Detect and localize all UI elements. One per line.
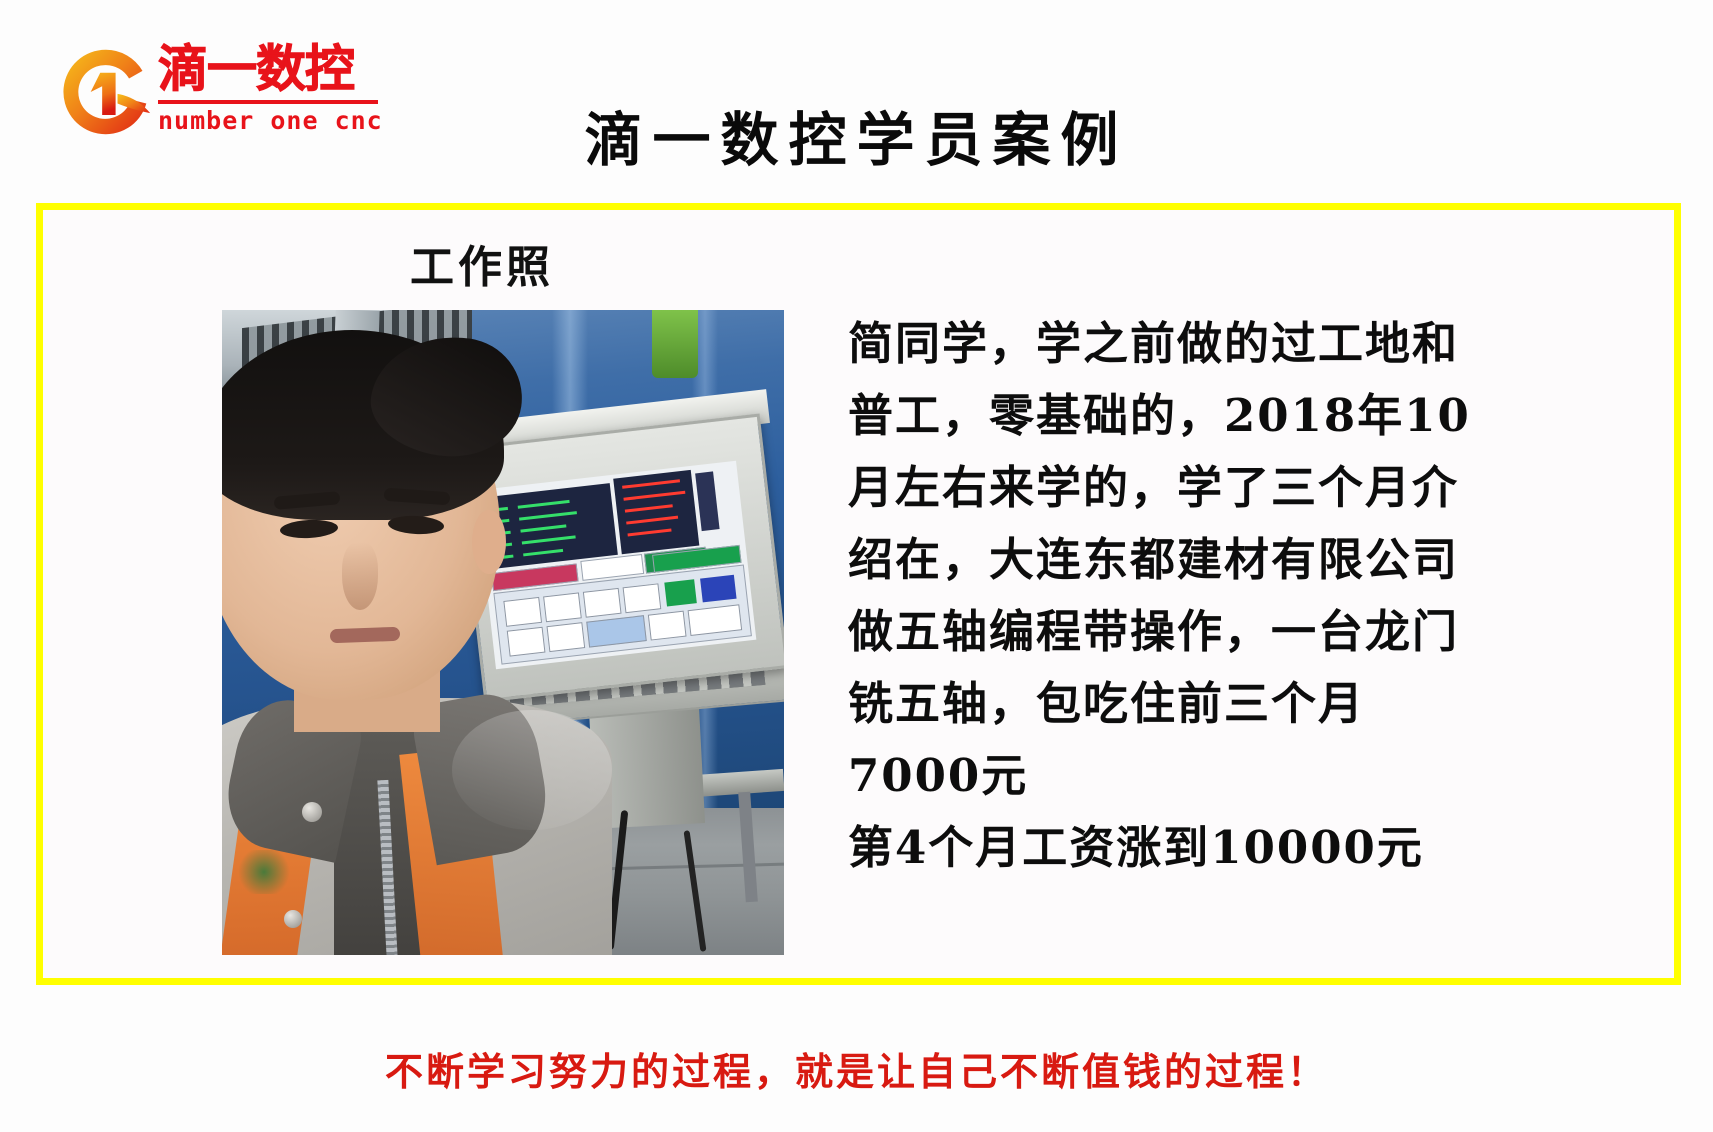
student-story-text: 简同学，学之前做的过工地和 普工，零基础的，2018年10 月左右来学的，学了三… bbox=[848, 308, 1588, 884]
student-work-photo bbox=[222, 310, 784, 955]
jacket-highlight bbox=[452, 710, 612, 830]
story-line: 铣五轴，包吃住前三个月 bbox=[848, 668, 1588, 740]
story-line: 简同学，学之前做的过工地和 bbox=[848, 308, 1588, 380]
story-line: 做五轴编程带操作，一台龙门 bbox=[848, 596, 1588, 668]
person-ear bbox=[472, 510, 506, 574]
green-fixture bbox=[652, 310, 698, 378]
story-line: 7000元 bbox=[848, 740, 1588, 812]
screen-side-menu bbox=[695, 471, 719, 531]
person-nose bbox=[342, 542, 378, 610]
jacket-print-mark bbox=[236, 850, 292, 894]
page-header: 滴一数控 number one cnc 滴一数控学员案例 bbox=[0, 0, 1713, 195]
story-line: 月左右来学的，学了三个月介 bbox=[848, 452, 1588, 524]
cnc-screen-display bbox=[476, 461, 757, 670]
person-mouth bbox=[330, 627, 400, 643]
story-line: 第4个月工资涨到10000元 bbox=[848, 812, 1588, 884]
photo-caption-label: 工作照 bbox=[410, 243, 554, 293]
story-line: 普工，零基础的，2018年10 bbox=[848, 380, 1588, 452]
story-line: 绍在，大连东都建材有限公司 bbox=[848, 524, 1588, 596]
page-title: 滴一数控学员案例 bbox=[0, 108, 1713, 172]
brand-name-cn: 滴一数控 bbox=[158, 40, 378, 98]
screen-position-readout bbox=[613, 470, 699, 554]
jacket-snap-button bbox=[284, 910, 302, 928]
footer-slogan: 不断学习努力的过程，就是让自己不断值钱的过程！ bbox=[0, 1048, 1713, 1096]
jacket-snap-button bbox=[302, 802, 322, 822]
